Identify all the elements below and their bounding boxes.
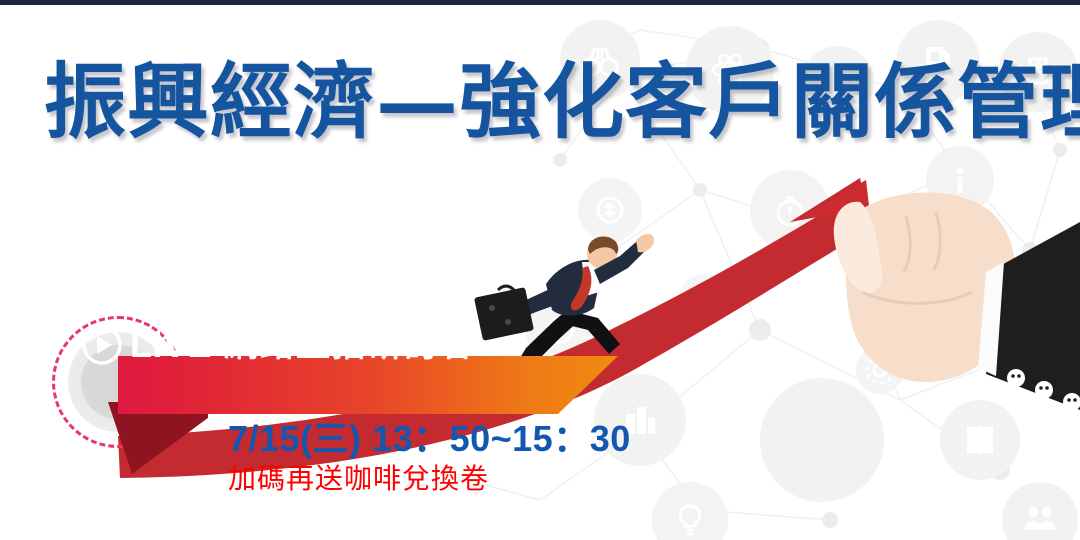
play-circle-icon[interactable]	[82, 325, 122, 365]
briefcase-latch	[489, 305, 495, 311]
hand-grabbing-arrow-illustration	[800, 160, 1080, 440]
seminar-label: 網路直播研討會	[224, 323, 476, 367]
briefcase-handle	[498, 286, 514, 290]
page-title: 振興經濟—強化客戶關係管理	[44, 54, 1080, 150]
runner-front-hand	[636, 234, 654, 252]
schedule-bonus-note: 加碼再送咖啡兌換卷	[228, 457, 489, 497]
top-rule	[0, 0, 1080, 5]
live-label: LIVE	[130, 324, 212, 366]
schedule-datetime: 7/15(三) 13：50~15：30	[228, 410, 631, 462]
promo-banner: 振興經濟—強化客戶關係管理 LIVE 網路直播研討會 7/15(三) 13：50…	[0, 0, 1080, 540]
